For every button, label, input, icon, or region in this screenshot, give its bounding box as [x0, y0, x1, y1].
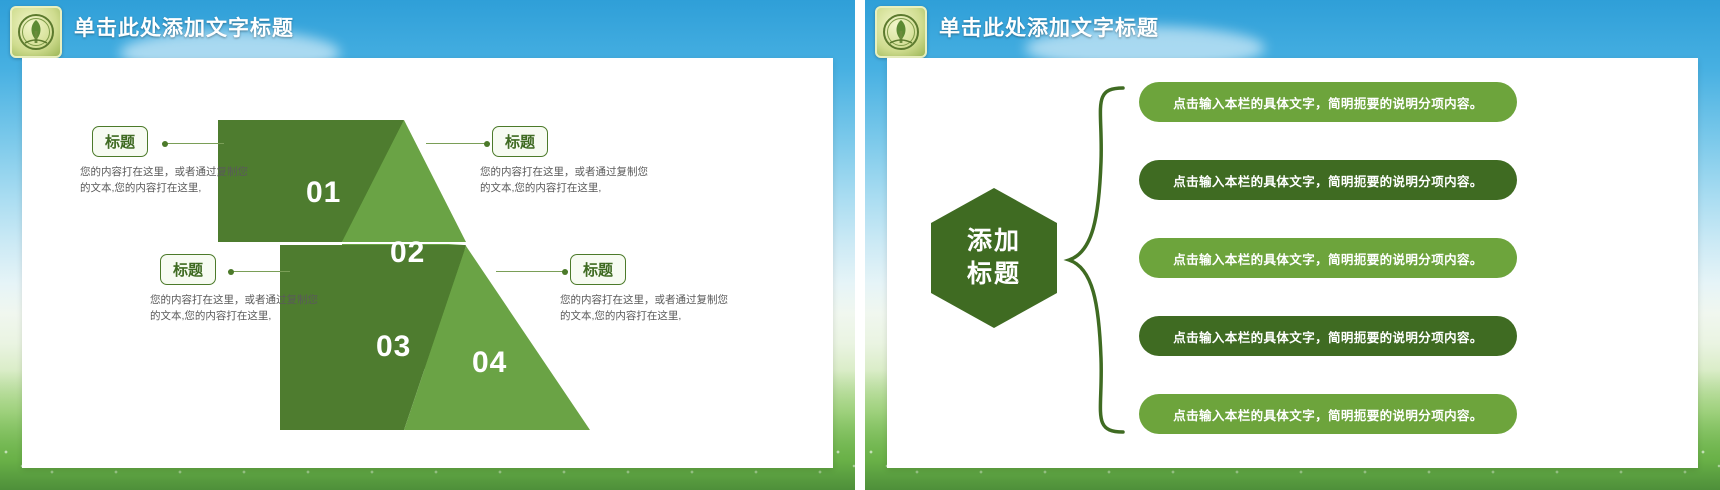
bullet-pill-4[interactable]: 点击输入本栏的具体文字，简明扼要的说明分项内容。 [1139, 316, 1517, 356]
connector-line-03 [228, 271, 290, 272]
desc-text-02: 您的内容打在这里，或者通过复制您的文本,您的内容打在这里, [480, 164, 648, 196]
hex-title-line1: 添加 [967, 227, 1021, 255]
step-number-04: 04 [472, 346, 507, 380]
step-number-02: 02 [390, 236, 425, 270]
slide-1-content-card: 01 02 03 04 标题 您的内容打在这里，或者通过复制您的文本,您的内容打… [22, 58, 833, 468]
label-tag-02[interactable]: 标题 [492, 126, 548, 157]
chevron-shape-overlay [22, 58, 833, 468]
bullet-pill-2[interactable]: 点击输入本栏的具体文字，简明扼要的说明分项内容。 [1139, 160, 1517, 200]
emblem-badge-icon [10, 6, 62, 58]
bullet-pill-1[interactable]: 点击输入本栏的具体文字，简明扼要的说明分项内容。 [1139, 82, 1517, 122]
emblem-badge-icon [875, 6, 927, 58]
hex-title-shape[interactable]: 添加 标题 [931, 188, 1057, 328]
desc-text-04: 您的内容打在这里，或者通过复制您的文本,您的内容打在这里, [560, 292, 728, 324]
slide-2: 单击此处添加文字标题 添加 标题 点击输入本栏的具体文字，简明扼要的说明分项内容… [865, 0, 1720, 490]
connector-line-01 [162, 143, 224, 144]
connector-line-04 [496, 271, 568, 272]
slide-2-header: 单击此处添加文字标题 [865, 0, 1720, 58]
label-tag-03[interactable]: 标题 [160, 254, 216, 285]
desc-text-03: 您的内容打在这里，或者通过复制您的文本,您的内容打在这里, [150, 292, 318, 324]
bullet-pill-5[interactable]: 点击输入本栏的具体文字，简明扼要的说明分项内容。 [1139, 394, 1517, 434]
page-title: 单击此处添加文字标题 [74, 12, 294, 42]
step-number-01: 01 [306, 176, 341, 210]
label-tag-01[interactable]: 标题 [92, 126, 148, 157]
hex-title-line2: 标题 [967, 260, 1021, 288]
slide-deck: 单击此处添加文字标题 [0, 0, 1720, 490]
slide-1-header: 单击此处添加文字标题 [0, 0, 855, 58]
page-title: 单击此处添加文字标题 [939, 12, 1159, 42]
slide-1: 单击此处添加文字标题 [0, 0, 855, 490]
label-tag-04[interactable]: 标题 [570, 254, 626, 285]
step-number-03: 03 [376, 330, 411, 364]
bullet-pill-3[interactable]: 点击输入本栏的具体文字，简明扼要的说明分项内容。 [1139, 238, 1517, 278]
curly-brace-icon [1063, 84, 1133, 436]
connector-line-02 [426, 143, 490, 144]
slide-2-content-card: 添加 标题 点击输入本栏的具体文字，简明扼要的说明分项内容。 点击输入本栏的具体… [887, 58, 1698, 468]
desc-text-01: 您的内容打在这里，或者通过复制您的文本,您的内容打在这里, [80, 164, 248, 196]
